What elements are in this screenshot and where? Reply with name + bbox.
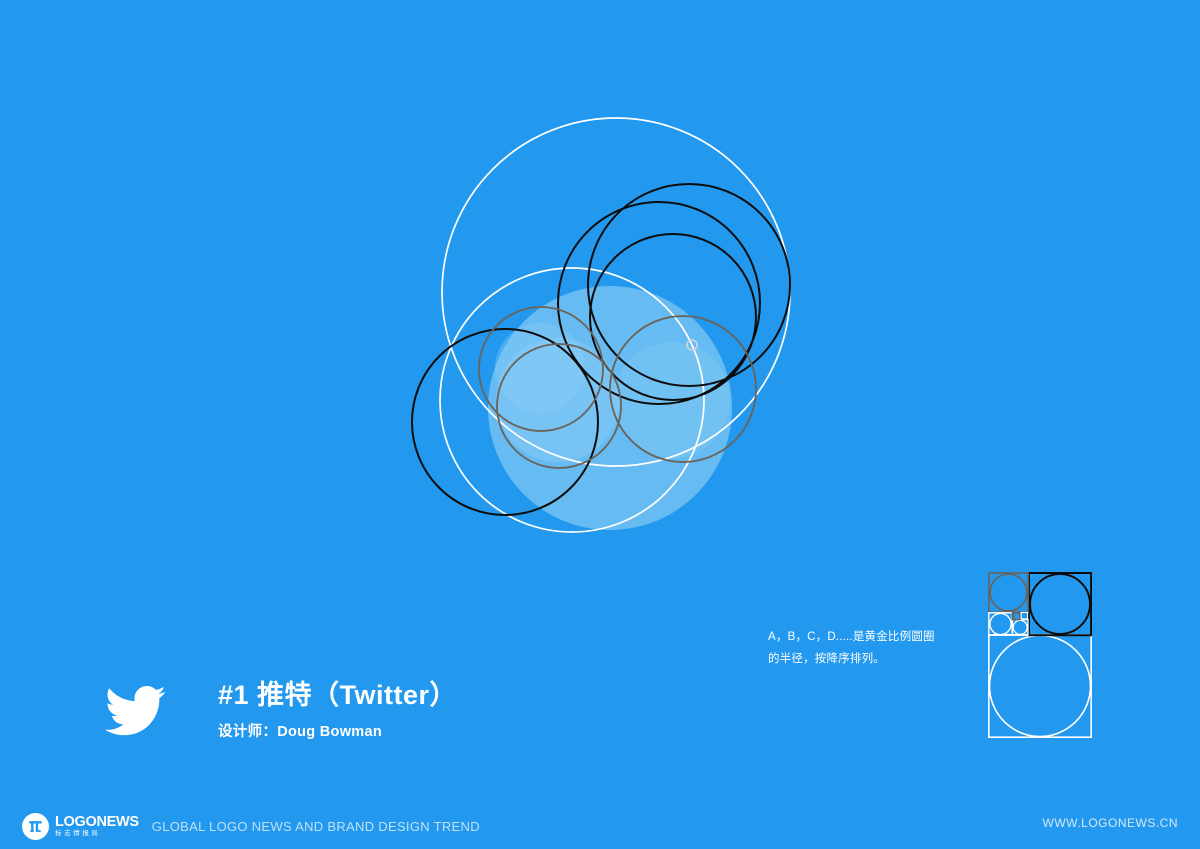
page-title: #1 推特（Twitter） xyxy=(218,676,457,714)
footer-bar: LOGONEWS 标志情报局 GLOBAL LOGO NEWS AND BRAN… xyxy=(0,803,1200,849)
title-text-wrap: #1 推特（Twitter） 设计师：Doug Bowman xyxy=(218,676,457,741)
guide-circle-h xyxy=(497,344,621,468)
guide-circle-d xyxy=(558,202,760,404)
white-guide-circles xyxy=(440,118,790,532)
golden-ratio-key-diagram xyxy=(988,572,1092,744)
guide-circle-g xyxy=(479,307,603,431)
golden-ratio-note: A，B，C，D.....是黄金比例圆圈 的半径，按降序排列。 xyxy=(768,626,964,670)
golden-square-bronze xyxy=(989,573,1028,612)
gray-guide-circles xyxy=(479,307,756,468)
note-line-2: 的半径，按降序排列。 xyxy=(768,648,964,670)
golden-circle-small xyxy=(1013,620,1027,634)
designer-credit: 设计师：Doug Bowman xyxy=(218,720,457,741)
golden-square-micro xyxy=(1021,613,1027,619)
filled-shape-wing xyxy=(496,338,620,462)
filled-shape-head xyxy=(495,323,585,413)
golden-square-small xyxy=(1012,620,1028,636)
footer-brand[interactable]: LOGONEWS 标志情报局 GLOBAL LOGO NEWS AND BRAN… xyxy=(22,806,480,846)
guide-circle-a xyxy=(442,118,790,466)
filled-shape-body xyxy=(488,286,732,530)
note-line-1: A，B，C，D.....是黄金比例圆圈 xyxy=(768,626,964,648)
logonews-word-sub: 标志情报局 xyxy=(55,831,139,838)
twitter-bird-icon xyxy=(104,684,166,740)
footer-url[interactable]: WWW.LOGONEWS.CN xyxy=(1043,816,1179,830)
black-guide-circles xyxy=(412,184,790,515)
filled-shapes-group xyxy=(488,286,732,530)
golden-square-med xyxy=(989,613,1012,635)
logonews-mark-icon xyxy=(22,813,49,840)
guide-circle-b xyxy=(440,268,704,532)
guide-circle-f xyxy=(412,329,598,515)
logonews-glyph-icon xyxy=(27,818,44,835)
poster-canvas: #1 推特（Twitter） 设计师：Doug Bowman A，B，C，D..… xyxy=(0,0,1200,849)
guide-circle-i xyxy=(610,316,756,462)
footer-tagline: GLOBAL LOGO NEWS AND BRAND DESIGN TREND xyxy=(152,819,480,834)
golden-circle-med xyxy=(990,613,1011,634)
golden-circle-bronze xyxy=(990,574,1027,611)
guide-circle-j-marker xyxy=(687,340,697,350)
logonews-word-main: LOGONEWS xyxy=(55,815,139,830)
filled-shape-beak xyxy=(614,342,730,458)
logonews-wordmark: LOGONEWS 标志情报局 xyxy=(55,815,139,838)
golden-circle-large xyxy=(990,636,1091,737)
golden-circle-tiny xyxy=(1013,613,1020,620)
title-block: #1 推特（Twitter） 设计师：Doug Bowman xyxy=(104,676,624,758)
guide-circle-e xyxy=(590,234,756,400)
golden-circle-black xyxy=(1030,574,1090,634)
guide-circle-c xyxy=(588,184,790,386)
